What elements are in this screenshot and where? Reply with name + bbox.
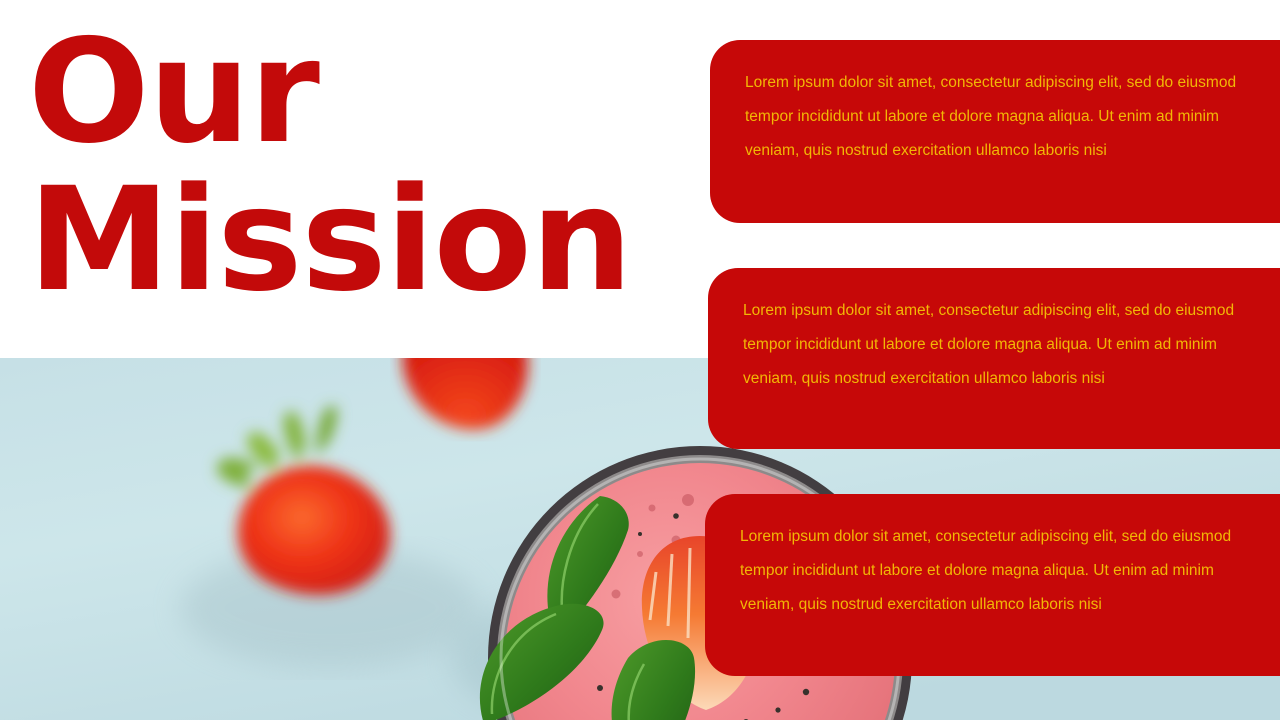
mission-card-2[interactable]: Lorem ipsum dolor sit amet, consectetur … (708, 268, 1280, 449)
title-line-1: Our (28, 18, 668, 166)
mission-card-1-text: Lorem ipsum dolor sit amet, consectetur … (745, 66, 1245, 168)
slide-root: Our Mission Lorem ipsum dolor sit amet, … (0, 0, 1280, 720)
mission-card-3-text: Lorem ipsum dolor sit amet, consectetur … (740, 520, 1240, 622)
mission-card-3[interactable]: Lorem ipsum dolor sit amet, consectetur … (705, 494, 1280, 676)
mission-card-2-text: Lorem ipsum dolor sit amet, consectetur … (743, 294, 1243, 396)
mission-card-1[interactable]: Lorem ipsum dolor sit amet, consectetur … (710, 40, 1280, 223)
title-line-2: Mission (28, 166, 668, 314)
page-title: Our Mission (28, 18, 668, 314)
